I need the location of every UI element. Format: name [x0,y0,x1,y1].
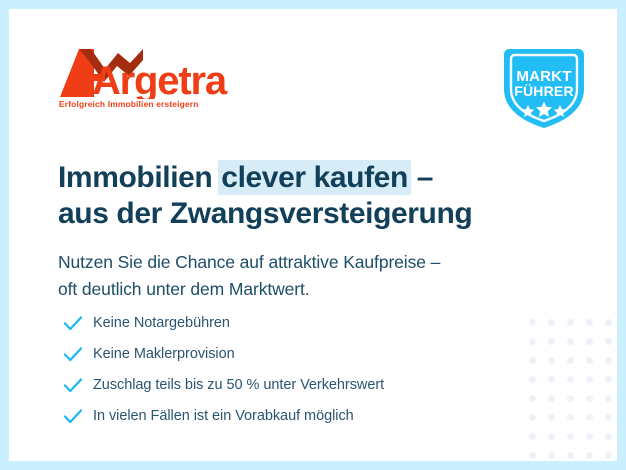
dot [605,452,612,459]
headline-line2: aus der Zwangsversteigerung [58,197,472,230]
headline: Immobilien clever kaufen – aus der Zwang… [58,160,472,232]
dot [586,357,593,364]
dot [586,433,593,440]
dot [605,357,612,364]
dot [567,376,574,383]
dot [567,357,574,364]
dot [605,433,612,440]
dot [529,376,536,383]
dot [529,433,536,440]
dot [605,319,612,326]
dot [529,452,536,459]
dot [567,433,574,440]
check-icon [62,374,84,396]
dot [548,452,555,459]
subheadline-line1: Nutzen Sie die Chance auf attraktive Kau… [58,252,440,272]
dot [605,376,612,383]
dot [548,376,555,383]
check-icon [62,312,84,334]
subheadline: Nutzen Sie die Chance auf attraktive Kau… [58,249,440,303]
markt-fuehrer-badge: MARKT FÜHRER [496,45,592,131]
dot [529,338,536,345]
dot [548,338,555,345]
dot [586,376,593,383]
dot [529,395,536,402]
list-item: In vielen Fällen ist ein Vorabkauf mögli… [62,400,384,431]
dot [586,395,593,402]
subheadline-line2: oft deutlich unter dem Marktwert. [58,279,310,299]
dot [605,395,612,402]
list-item: Zuschlag teils bis zu 50 % unter Verkehr… [62,369,384,400]
shield-icon: MARKT FÜHRER [496,45,592,131]
list-item: Keine Maklerprovision [62,338,384,369]
headline-highlight: clever kaufen [218,160,411,195]
dot [567,319,574,326]
headline-text-after: – [409,161,433,194]
benefit-list: Keine Notargebühren Keine Maklerprovisio… [62,307,384,431]
list-item-label: In vielen Fällen ist ein Vorabkauf mögli… [93,408,354,424]
list-item: Keine Notargebühren [62,307,384,338]
dot [586,338,593,345]
check-icon [62,343,84,365]
dot [529,319,536,326]
dot [567,395,574,402]
dot [548,414,555,421]
dot [586,319,593,326]
svg-text:Argetra: Argetra [92,59,228,99]
headline-line1: Immobilien clever kaufen – [58,161,433,194]
check-icon [62,405,84,427]
logo-tagline: Erfolgreich Immobilien ersteigern [59,99,199,109]
dot [586,414,593,421]
badge-line2: FÜHRER [514,83,574,99]
headline-text-before: Immobilien [58,161,220,194]
dot-grid-decoration [523,313,617,461]
dot [548,395,555,402]
dot [548,319,555,326]
dot [529,414,536,421]
dot [548,357,555,364]
dot [586,452,593,459]
banner-card: Argetra Erfolgreich Immobilien ersteiger… [9,9,617,461]
dot [567,338,574,345]
list-item-label: Zuschlag teils bis zu 50 % unter Verkehr… [93,377,384,393]
dot [567,414,574,421]
promo-banner: Argetra Erfolgreich Immobilien ersteiger… [0,0,626,470]
dot [567,452,574,459]
dot [605,414,612,421]
argetra-logo: Argetra Erfolgreich Immobilien ersteiger… [58,47,238,115]
list-item-label: Keine Notargebühren [93,315,230,331]
list-item-label: Keine Maklerprovision [93,346,235,362]
argetra-logo-mark: Argetra [58,47,238,99]
dot [605,338,612,345]
dot [529,357,536,364]
dot [548,433,555,440]
